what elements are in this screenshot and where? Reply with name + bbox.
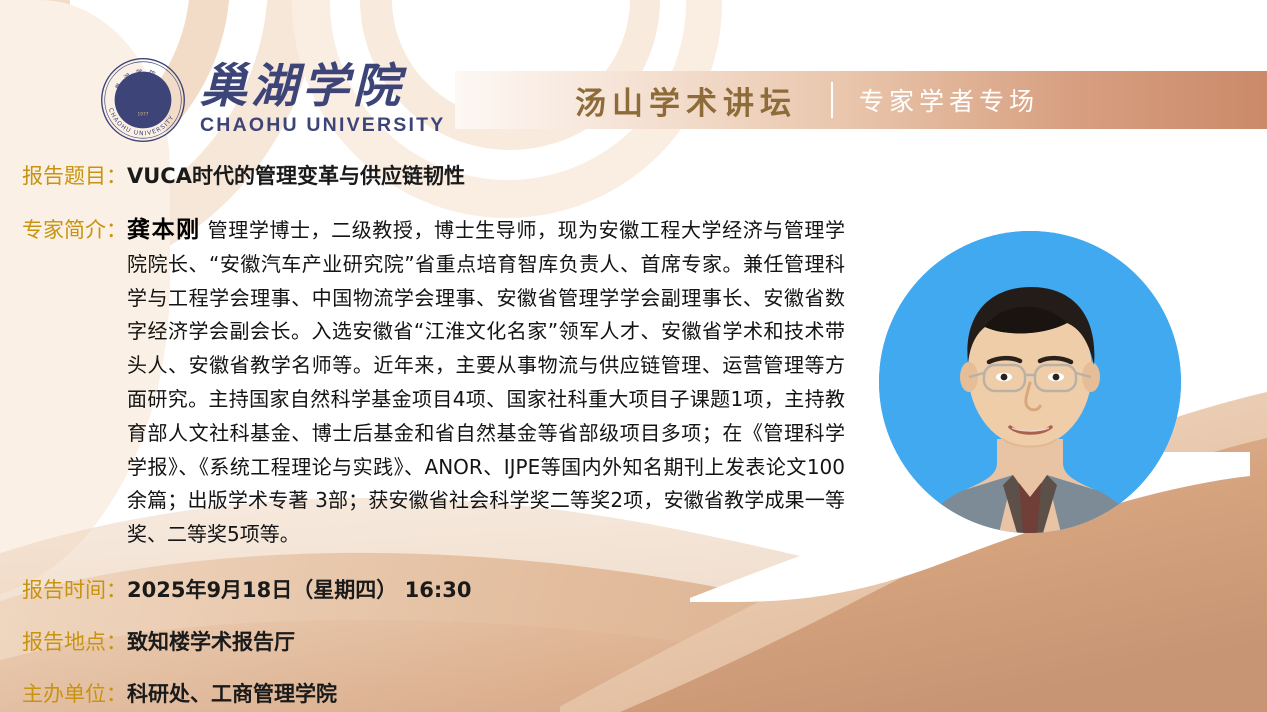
speaker-bio-paragraph: 管理学博士，二级教授，博士生导师，现为安徽工程大学经济与管理学院院长、“安徽汽车… [127, 218, 845, 546]
value-organizer: 科研处、工商管理学院 [127, 678, 337, 708]
label-report-title: 报告题目： [22, 160, 127, 190]
university-logo: 1977 巢 湖 学 院 CHAOHU UNIVERSITY 巢湖学院 CHAO… [100, 57, 445, 143]
speaker-bio-text: 龚本刚 管理学博士，二级教授，博士生导师，现为安徽工程大学经济与管理学院院长、“… [127, 214, 845, 552]
svg-text:1977: 1977 [138, 111, 149, 117]
value-report-time: 2025年9月18日（星期四） 16:30 [127, 574, 471, 604]
university-wordmark: 巢湖学院 CHAOHU UNIVERSITY [200, 63, 445, 137]
row-speaker-bio: 专家简介： 龚本刚 管理学博士，二级教授，博士生导师，现为安徽工程大学经济与管理… [22, 214, 845, 552]
row-organizer: 主办单位： 科研处、工商管理学院 [22, 678, 337, 708]
label-organizer: 主办单位： [22, 678, 127, 708]
row-report-place: 报告地点： 致知楼学术报告厅 [22, 626, 295, 656]
forum-title: 汤山学术讲坛 [575, 78, 797, 123]
label-report-time: 报告时间： [22, 574, 127, 604]
row-report-title: 报告题目： VUCA时代的管理变革与供应链韧性 [22, 160, 465, 190]
poster-header: 汤山学术讲坛 专家学者专场 1977 巢 湖 学 院 [0, 57, 1267, 143]
banner-divider [831, 82, 833, 118]
label-report-place: 报告地点： [22, 626, 127, 656]
university-emblem-icon: 1977 巢 湖 学 院 CHAOHU UNIVERSITY [100, 57, 186, 143]
label-speaker-bio: 专家简介： [22, 214, 127, 244]
university-name-en: CHAOHU UNIVERSITY [200, 114, 445, 137]
speaker-name: 龚本刚 [127, 217, 201, 243]
university-name-cn: 巢湖学院 [200, 63, 445, 112]
speaker-portrait [879, 231, 1181, 533]
lecture-poster: 汤山学术讲坛 专家学者专场 1977 巢 湖 学 院 [0, 0, 1267, 712]
value-report-place: 致知楼学术报告厅 [127, 626, 295, 656]
forum-subtitle: 专家学者专场 [859, 82, 1039, 118]
forum-banner: 汤山学术讲坛 专家学者专场 [455, 71, 1267, 129]
row-report-time: 报告时间： 2025年9月18日（星期四） 16:30 [22, 574, 471, 604]
value-report-title: VUCA时代的管理变革与供应链韧性 [127, 160, 465, 190]
